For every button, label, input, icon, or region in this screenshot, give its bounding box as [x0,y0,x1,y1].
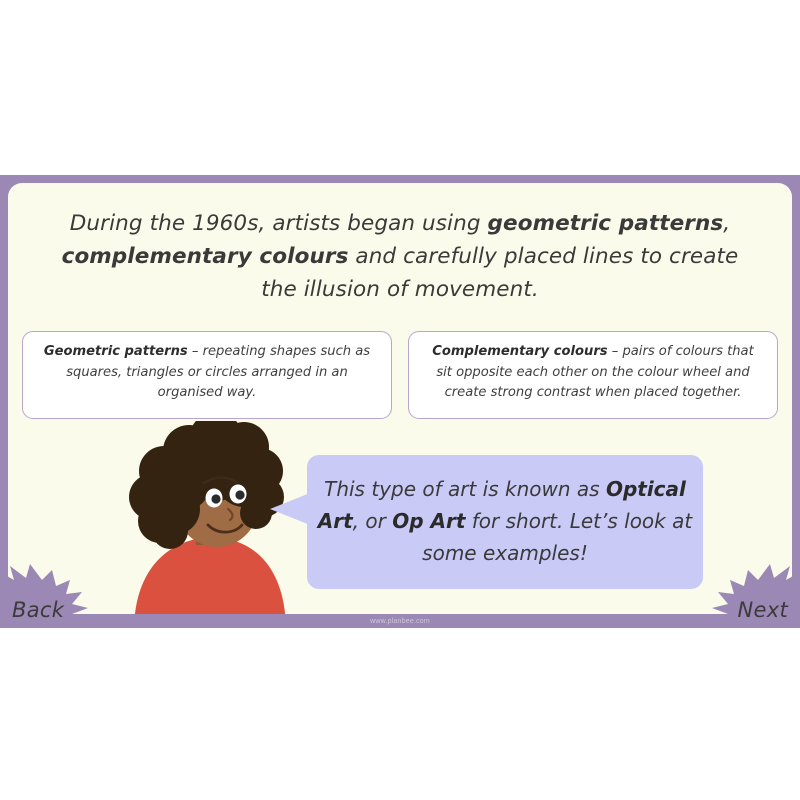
speech-bubble: This type of art is known as Optical Art… [307,455,703,589]
heading-text-part-1: During the 1960s, artists began using [70,211,488,236]
definition-term-complementary-colours: Complementary colours [432,344,607,359]
heading-bold-geometric-patterns: geometric patterns [488,211,724,236]
heading-text-part-2: , [723,211,730,236]
slide-frame: During the 1960s, artists began using ge… [0,175,800,628]
speech-text-part-1: This type of art is known as [324,477,606,501]
page-title: During the 1960s, artists began using ge… [58,207,742,306]
watermark: www.planbee.com [0,618,800,625]
slide-screenshot: During the 1960s, artists began using ge… [0,0,800,800]
speech-bubble-text: This type of art is known as Optical Art… [307,473,703,569]
speech-bold-op-art: Op Art [392,509,465,533]
speech-bubble-tail [270,493,310,525]
slide-panel: During the 1960s, artists began using ge… [8,183,792,614]
definition-card-complementary-colours: Complementary colours – pairs of colours… [408,331,778,419]
heading-bold-complementary-colours: complementary colours [62,244,349,269]
definition-card-geometric-patterns: Geometric patterns – repeating shapes su… [22,331,392,419]
definition-term-geometric-patterns: Geometric patterns [44,344,188,359]
speech-text-part-2: , or [353,509,393,533]
